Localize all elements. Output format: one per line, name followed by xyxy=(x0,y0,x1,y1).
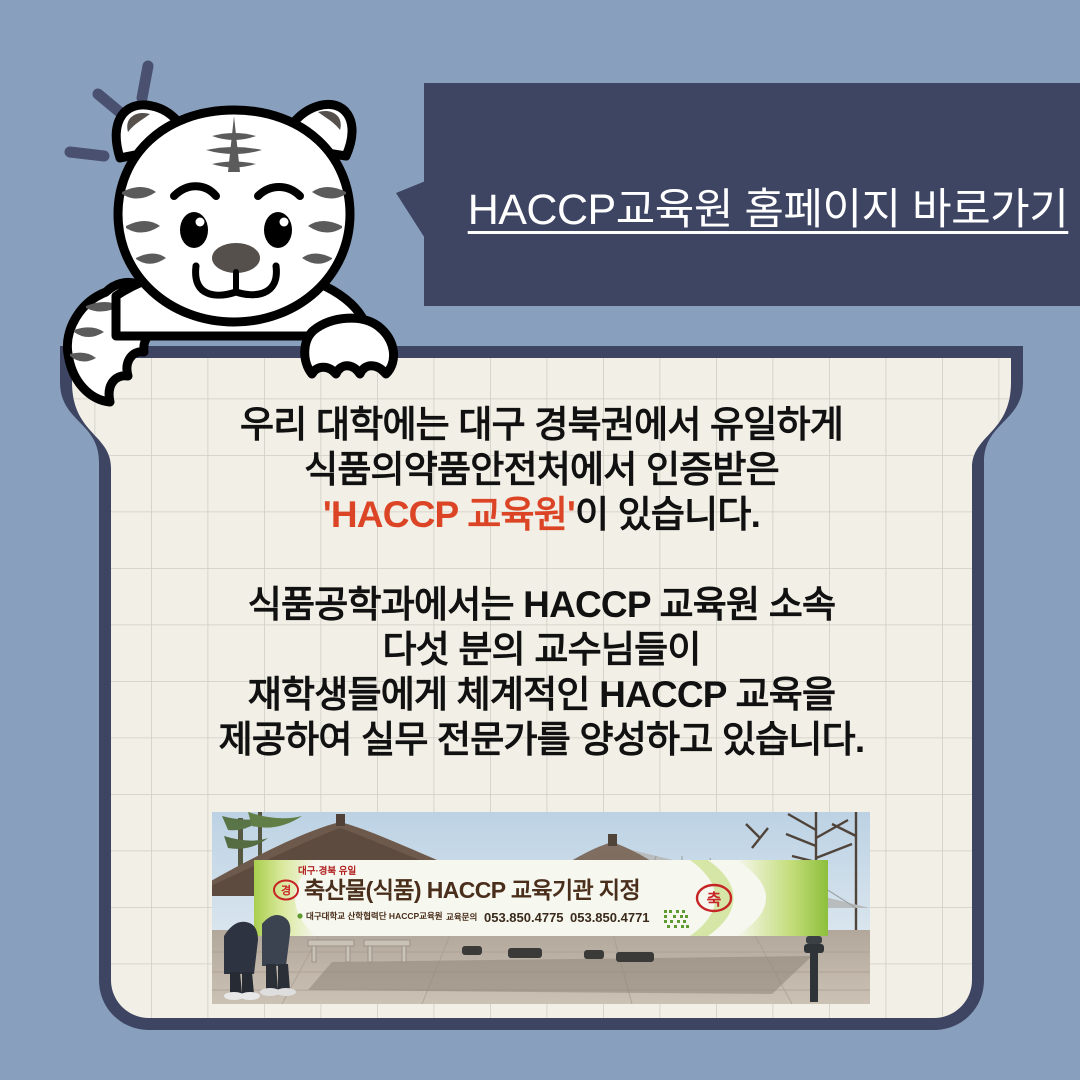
p2-line-1: 식품공학과에서는 HACCP 교육원 소속 xyxy=(44,582,1039,627)
white-tiger-mascot xyxy=(46,44,446,444)
mascot-eye-left xyxy=(180,212,208,248)
banner-phone-2: 053.850.4771 xyxy=(570,910,650,925)
banner-org: 대구대학교 산학협력단 HACCP교육원 xyxy=(306,911,443,921)
banner-headline: 축산물(식품) HACCP 교육기관 지정 xyxy=(304,877,640,903)
mascot-right-paw xyxy=(305,318,394,374)
banner-phone-1: 053.850.4775 xyxy=(484,910,564,925)
speech-bubble: HACCP교육원 홈페이지 바로가기 xyxy=(424,83,1080,306)
p1-line-2: 식품의약품안전처에서 인증받은 xyxy=(44,447,1039,492)
mascot-eye-right xyxy=(264,212,292,248)
banner-seal-left: 경 xyxy=(281,883,291,897)
p2-line-4: 제공하여 실무 전문가를 양성하고 있습니다. xyxy=(44,717,1039,762)
banner-eyebrow: 대구·경북 유일 xyxy=(298,865,357,877)
p2-line-3: 재학생들에게 체계적인 HACCP 교육을 xyxy=(44,672,1039,717)
haccp-designation-banner-photo: 대구·경북 유일 경 축산물(식품) HACCP 교육기관 지정 축 대구대학교… xyxy=(212,812,870,1004)
mascot-nose xyxy=(212,243,260,273)
banner-inquiry-label: 교육문의 xyxy=(446,912,477,922)
paragraph-2: 식품공학과에서는 HACCP 교육원 소속 다섯 분의 교수님들이 재학생들에게… xyxy=(44,582,1039,762)
paragraph-spacer xyxy=(44,537,1039,582)
banner-seal-right: 축 xyxy=(707,891,722,909)
p2-line-2: 다섯 분의 교수님들이 xyxy=(44,627,1039,672)
accent-haccp-institute: 'HACCP 교육원' xyxy=(323,494,575,535)
card-body-text: 우리 대학에는 대구 경북권에서 유일하게 식품의약품안전처에서 인증받은 'H… xyxy=(44,402,1039,762)
p1-line-3: 'HACCP 교육원'이 있습니다. xyxy=(44,492,1039,537)
p1-line-3-rest: 이 있습니다. xyxy=(575,494,760,535)
haccp-homepage-link[interactable]: HACCP교육원 홈페이지 바로가기 xyxy=(424,83,1080,306)
